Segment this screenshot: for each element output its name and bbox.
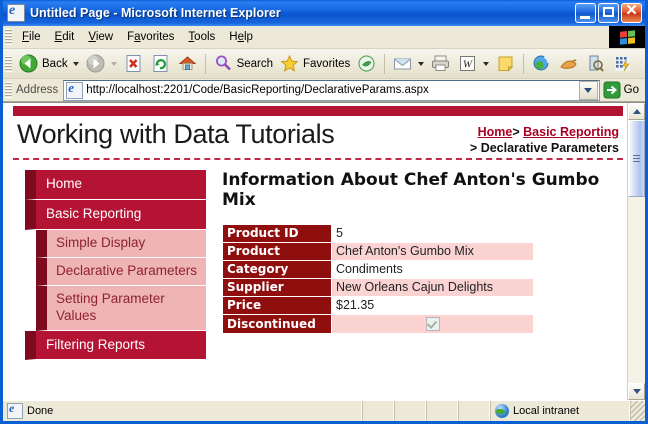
breadcrumb-separator-2: > [470,141,477,155]
sidebar-item-basic-reporting[interactable]: Basic Reporting [25,200,206,230]
favorites-label: Favorites [303,58,350,70]
media-icon [356,53,377,74]
intranet-globe-icon [495,404,509,418]
site-header: Working with Data Tutorials Home> Basic … [13,116,623,160]
menu-item-file[interactable]: File [15,29,48,45]
back-button[interactable]: Back [15,51,82,76]
menu-item-help[interactable]: Help [222,29,260,45]
status-bar: Done Local intranet [3,400,645,421]
page-viewport: Working with Data Tutorials Home> Basic … [3,102,645,400]
minimize-button[interactable] [575,3,596,23]
back-icon [18,53,39,74]
status-panel-blank-2 [394,401,426,421]
search-label: Search [237,58,273,70]
mail-button[interactable] [389,51,427,76]
address-input[interactable]: http://localhost:2201/Code/BasicReportin… [63,80,599,101]
row-header-category: Category [223,261,332,279]
table-row: Discontinued [223,315,534,334]
go-arrow-icon [603,81,621,99]
row-value-product-id: 5 [332,225,534,243]
research-icon [585,53,606,74]
status-text: Done [27,405,53,417]
edit-word-button[interactable]: W [454,51,492,76]
menu-item-tools[interactable]: Tools [181,29,222,45]
scroll-down-arrow-icon[interactable] [628,383,645,400]
table-row: Supplier New Orleans Cajun Delights [223,279,534,297]
toolbar-separator-3 [523,54,524,74]
status-panel-blank-4 [458,401,490,421]
menu-gripper[interactable] [5,29,12,45]
menu-bar: File Edit View Favorites Tools Help [3,26,645,49]
security-zone-panel[interactable]: Local intranet [490,401,630,421]
web-page: Working with Data Tutorials Home> Basic … [3,103,627,400]
toolbar-separator-2 [384,54,385,74]
sidebar-item-label: Filtering Reports [46,337,145,352]
site-accent-bar [13,106,623,116]
go-button[interactable]: Go [600,81,644,99]
security-zone-text: Local intranet [513,405,579,417]
menu-item-favorites[interactable]: Favorites [120,29,181,45]
address-gripper[interactable] [5,82,12,98]
page-title: Working with Data Tutorials [13,120,334,148]
page-icon [66,82,83,99]
table-row: Category Condiments [223,261,534,279]
browser-window: Untitled Page - Microsoft Internet Explo… [0,0,648,424]
favorites-star-icon [279,53,300,74]
row-header-price: Price [223,297,332,315]
print-icon [430,53,451,74]
mail-icon [392,53,413,74]
main-toolbar: Back [3,49,645,79]
forward-button [82,51,120,76]
status-panel-blank-1 [362,401,394,421]
research-button[interactable] [582,51,609,76]
status-panel: Done [3,401,362,421]
edit-dropdown-icon[interactable] [483,62,489,66]
sidebar-item-label: Simple Display [56,235,145,250]
breadcrumb-link-home[interactable]: Home [478,125,513,139]
forward-dropdown-icon [111,62,117,66]
sidebar-item-filtering-reports[interactable]: Filtering Reports [25,331,206,361]
media-button[interactable] [353,51,380,76]
encarta-icon [612,53,633,74]
row-value-discontinued [332,315,534,334]
go-label: Go [624,84,639,96]
address-bar: Address http://localhost:2201/Code/Basic… [3,79,645,102]
title-bar: Untitled Page - Microsoft Internet Explo… [3,0,645,26]
page-columns: Home Basic Reporting Simple Display Decl… [3,160,627,360]
address-dropdown-button[interactable] [579,81,598,100]
refresh-icon [150,53,171,74]
scroll-track[interactable] [628,120,645,383]
sidebar-nav: Home Basic Reporting Simple Display Decl… [25,170,206,360]
toolbar-separator [205,54,206,74]
ie-page-icon [7,4,25,22]
row-value-supplier: New Orleans Cajun Delights [332,279,534,297]
search-button[interactable]: Search [210,51,276,76]
breadcrumb-separator-1: > [512,125,519,139]
chevron-down-icon [584,88,592,93]
row-header-product-id: Product ID [223,225,332,243]
stop-icon [123,53,144,74]
main-content: Information About Chef Anton's Gumbo Mix… [206,170,627,334]
table-row: Product Chef Anton's Gumbo Mix [223,243,534,261]
product-details-table: Product ID 5 Product Chef Anton's Gumbo … [222,224,534,334]
menu-item-edit[interactable]: Edit [48,29,82,45]
edit-word-icon: W [457,53,478,74]
address-url-text: http://localhost:2201/Code/BasicReportin… [86,84,578,96]
row-header-supplier: Supplier [223,279,332,297]
sidebar-item-declarative-parameters[interactable]: Declarative Parameters [36,258,206,286]
scroll-up-arrow-icon[interactable] [628,103,645,120]
refresh-button[interactable] [147,51,174,76]
print-button[interactable] [427,51,454,76]
toolbar-gripper[interactable] [5,56,12,72]
address-label: Address [15,84,63,96]
fox-icon [558,53,579,74]
menu-item-view[interactable]: View [81,29,120,45]
sidebar-item-label: Setting Parameter Values [56,291,165,323]
vertical-scrollbar[interactable] [627,103,645,400]
scroll-thumb[interactable] [628,120,645,197]
sidebar-item-label: Home [46,176,82,191]
favorites-button[interactable]: Favorites [276,51,353,76]
messenger-globe-icon [531,53,552,74]
home-icon [177,53,198,74]
row-value-category: Condiments [332,261,534,279]
discontinued-checkbox [426,317,440,331]
stop-button[interactable] [120,51,147,76]
svg-text:W: W [463,59,473,71]
content-heading: Information About Chef Anton's Gumbo Mix [222,170,617,210]
home-button[interactable] [174,51,201,76]
status-panel-blank-3 [426,401,458,421]
forward-icon [85,53,106,74]
breadcrumb: Home> Basic Reporting > Declarative Para… [334,120,623,156]
notes-button[interactable] [492,51,519,76]
ie-page-icon [7,403,23,419]
mail-dropdown-icon[interactable] [418,62,424,66]
window-controls [575,3,642,23]
sidebar-item-simple-display[interactable]: Simple Display [36,230,206,258]
close-button[interactable] [621,3,642,23]
messenger-button[interactable] [528,51,555,76]
table-row: Price $21.35 [223,297,534,315]
row-value-price: $21.35 [332,297,534,315]
back-dropdown-icon[interactable] [73,62,79,66]
notes-icon [495,53,516,74]
sidebar-item-setting-parameter-values[interactable]: Setting Parameter Values [36,286,206,331]
breadcrumb-current: Declarative Parameters [481,141,619,155]
windows-flag-icon [609,26,645,48]
sidebar-item-label: Basic Reporting [46,206,141,221]
sidebar-item-label: Declarative Parameters [56,263,197,278]
breadcrumb-link-basic-reporting[interactable]: Basic Reporting [523,125,619,139]
row-value-product: Chef Anton's Gumbo Mix [332,243,534,261]
row-header-discontinued: Discontinued [223,315,332,334]
fox-button[interactable] [555,51,582,76]
encarta-button[interactable] [609,51,636,76]
window-title: Untitled Page - Microsoft Internet Explo… [30,6,575,20]
row-header-product: Product [223,243,332,261]
back-label: Back [42,58,68,70]
resize-grip[interactable] [630,401,645,421]
table-row: Product ID 5 [223,225,534,243]
maximize-button[interactable] [598,3,619,23]
search-icon [213,53,234,74]
sidebar-item-home[interactable]: Home [25,170,206,200]
